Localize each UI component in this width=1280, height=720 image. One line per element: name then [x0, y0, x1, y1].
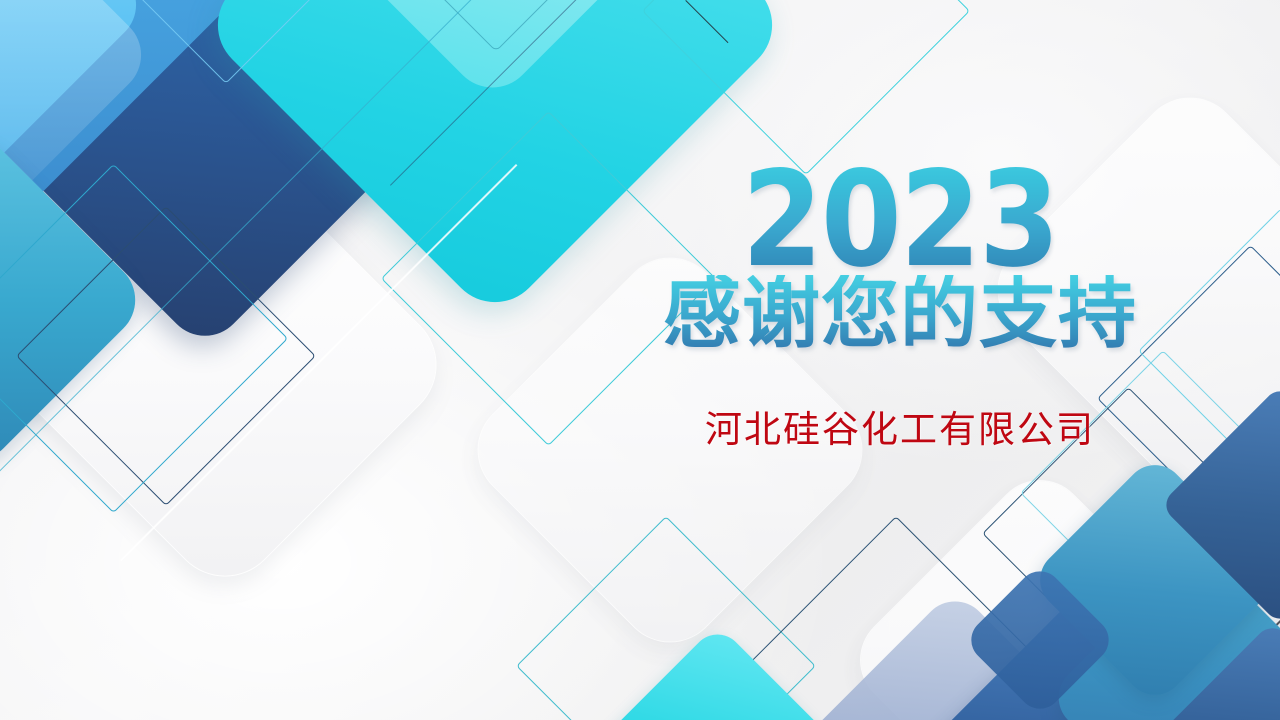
year-heading: 2023	[636, 160, 1164, 281]
company-name: 河北硅谷化工有限公司	[600, 399, 1200, 453]
thank-you-slide: 2023 感谢您的支持 河北硅谷化工有限公司	[0, 0, 1280, 720]
page-title: 感谢您的支持	[600, 275, 1200, 355]
slide-text-block: 2023 感谢您的支持 河北硅谷化工有限公司	[600, 160, 1200, 453]
